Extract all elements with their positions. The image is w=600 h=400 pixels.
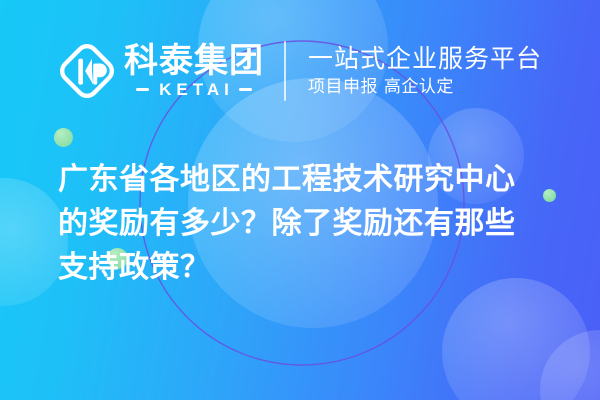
brand-name-en: KETAI: [154, 81, 234, 98]
headline: 广东省各地区的工程技术研究中心 的奖励有多少？除了奖励还有那些 支持政策？: [58, 158, 558, 290]
brand-logo[interactable]: 科泰集团 KETAI: [56, 40, 264, 102]
brand-wordmark: 科泰集团 KETAI: [124, 44, 264, 98]
promo-banner: 科泰集团 KETAI 一站式企业服务平台 项目申报 高企认定 广东省各地区的工程…: [0, 0, 600, 400]
brand-name-en-row: KETAI: [136, 81, 252, 98]
tagline-secondary: 项目申报 高企认定: [308, 76, 542, 98]
wordmark-rule-right: [239, 88, 252, 91]
green-dot-upper-left: [54, 128, 73, 147]
headline-line-1: 广东省各地区的工程技术研究中心: [58, 158, 558, 202]
tagline-block: 一站式企业服务平台 项目申报 高企认定: [308, 44, 542, 99]
kp-diamond-logo-icon: [56, 40, 118, 102]
tagline-primary: 一站式企业服务平台: [308, 44, 542, 74]
brand-name-cn: 科泰集团: [124, 44, 264, 79]
headline-line-3: 支持政策？: [58, 246, 558, 290]
header-divider: [284, 41, 286, 101]
decorative-circle-bottom-right-corner: [540, 330, 600, 400]
wordmark-rule-left: [136, 88, 149, 91]
decorative-circle-right-bottom: [442, 278, 590, 400]
headline-line-2: 的奖励有多少？除了奖励还有那些: [58, 202, 558, 246]
banner-header: 科泰集团 KETAI 一站式企业服务平台 项目申报 高企认定: [56, 40, 542, 102]
